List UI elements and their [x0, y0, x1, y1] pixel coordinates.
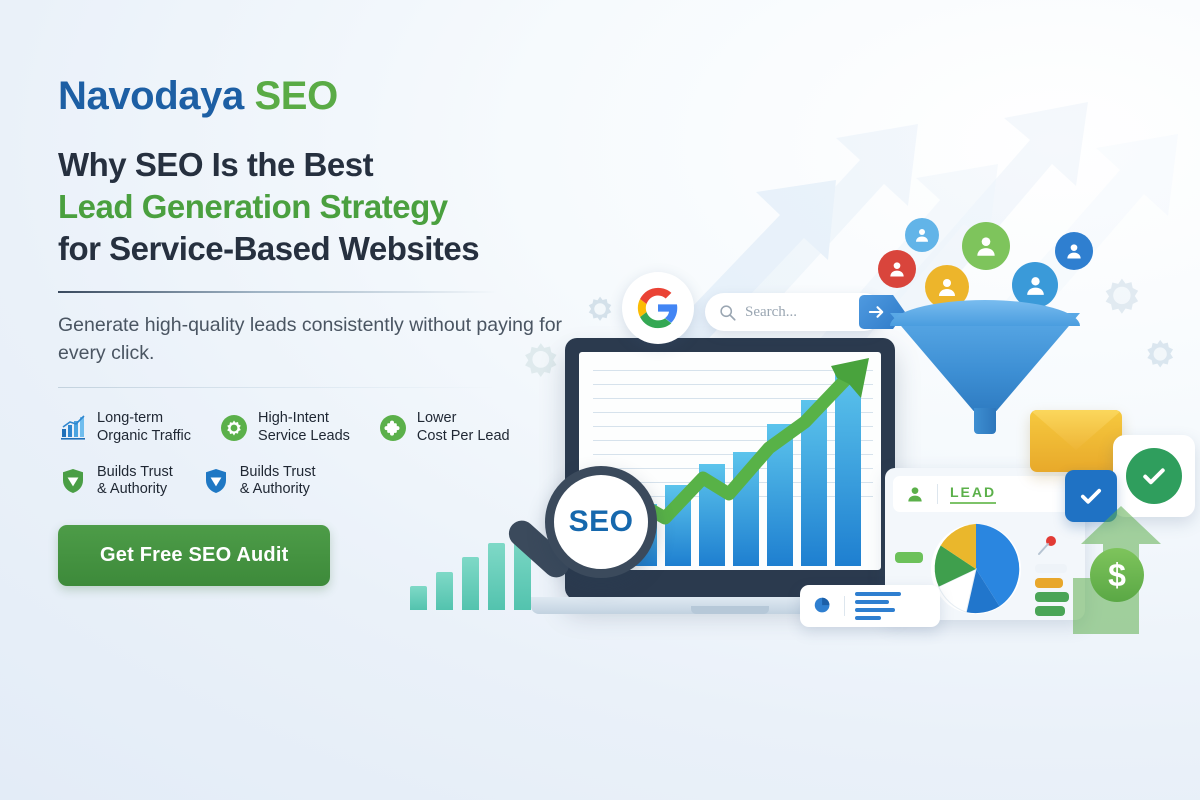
- envelope-icon: [1030, 410, 1122, 472]
- search-placeholder: Search...: [745, 304, 797, 321]
- seo-marketing-banner: Navodaya SEO Why SEO Is the Best Lead Ge…: [0, 0, 1200, 800]
- feature-line-2: Organic Traffic: [97, 428, 191, 444]
- feature-line-1: High-Intent: [258, 410, 329, 426]
- person-icon: [935, 275, 959, 299]
- feature-line-1: Builds Trust: [97, 464, 173, 480]
- feature-line-1: Builds Trust: [240, 464, 316, 480]
- lead-card-header: LEAD: [893, 476, 1077, 512]
- person-icon: [973, 233, 999, 259]
- avatar: [1055, 232, 1093, 270]
- feature-item-builds-trust-green: Builds Trust & Authority: [58, 458, 173, 505]
- avatar: [962, 222, 1010, 270]
- feature-line-2: Service Leads: [258, 428, 350, 444]
- person-icon: [905, 484, 925, 504]
- search-icon: [719, 304, 736, 321]
- feature-line-2: & Authority: [240, 481, 310, 497]
- laptop-notch: [691, 606, 769, 614]
- magnifier-lens: SEO: [545, 466, 657, 578]
- brand-name-primary: Navodaya: [58, 74, 244, 118]
- person-icon: [1023, 273, 1048, 298]
- shield-check-icon: [201, 466, 231, 496]
- search-input[interactable]: Search...: [705, 293, 883, 331]
- feature-line-1: Long-term: [97, 410, 163, 426]
- seo-illustration: Search... SEO: [400, 0, 1200, 800]
- headline-line-1: Why SEO Is the Best: [58, 146, 373, 183]
- magnifier-label: SEO: [569, 505, 634, 539]
- chart-icon: [812, 595, 834, 617]
- feature-item-organic-traffic: Long-term Organic Traffic: [58, 404, 191, 451]
- divider: [937, 484, 938, 504]
- lead-sources-pie-chart: [927, 520, 1025, 618]
- bar-chart-icon: [58, 413, 88, 443]
- avatar: [878, 250, 916, 288]
- gear-icon: [1135, 330, 1183, 378]
- analytics-mini-card: [800, 585, 940, 627]
- chip: [895, 552, 923, 563]
- check-circle-icon: [1126, 448, 1182, 504]
- chart-bars: [855, 592, 901, 620]
- person-icon: [887, 259, 907, 279]
- feature-item-builds-trust-blue: Builds Trust & Authority: [201, 458, 316, 505]
- get-free-seo-audit-button[interactable]: Get Free SEO Audit: [58, 525, 330, 586]
- envelope-flap: [1030, 410, 1122, 450]
- person-icon: [913, 226, 931, 244]
- feature-line-2: & Authority: [97, 481, 167, 497]
- shield-check-icon: [58, 466, 88, 496]
- dollar-icon: $: [1090, 548, 1144, 602]
- seo-magnifier: SEO: [545, 466, 657, 578]
- brand-name-secondary: SEO: [255, 74, 338, 118]
- status-badge: LEAD: [950, 484, 996, 504]
- divider: [844, 596, 845, 616]
- gear-icon: [510, 330, 566, 386]
- gear-icon: [578, 288, 620, 330]
- gear-icon: [1090, 265, 1148, 323]
- feature-item-high-intent-leads: High-Intent Service Leads: [219, 404, 350, 451]
- funnel-rim: [890, 300, 1080, 326]
- funnel-icon: [890, 300, 1080, 418]
- arrow-right-icon: [868, 304, 887, 320]
- feature-label: Builds Trust & Authority: [240, 464, 316, 499]
- google-g-icon: [622, 272, 694, 344]
- funnel-cone: [890, 313, 1080, 411]
- person-icon: [1064, 241, 1084, 261]
- feature-label: High-Intent Service Leads: [258, 410, 350, 445]
- avatar: [905, 218, 939, 252]
- feature-label: Builds Trust & Authority: [97, 464, 173, 499]
- headline-line-2: Lead Generation Strategy: [58, 188, 448, 225]
- feature-label: Long-term Organic Traffic: [97, 410, 191, 445]
- gear-icon: [219, 413, 249, 443]
- funnel-stem: [974, 408, 996, 434]
